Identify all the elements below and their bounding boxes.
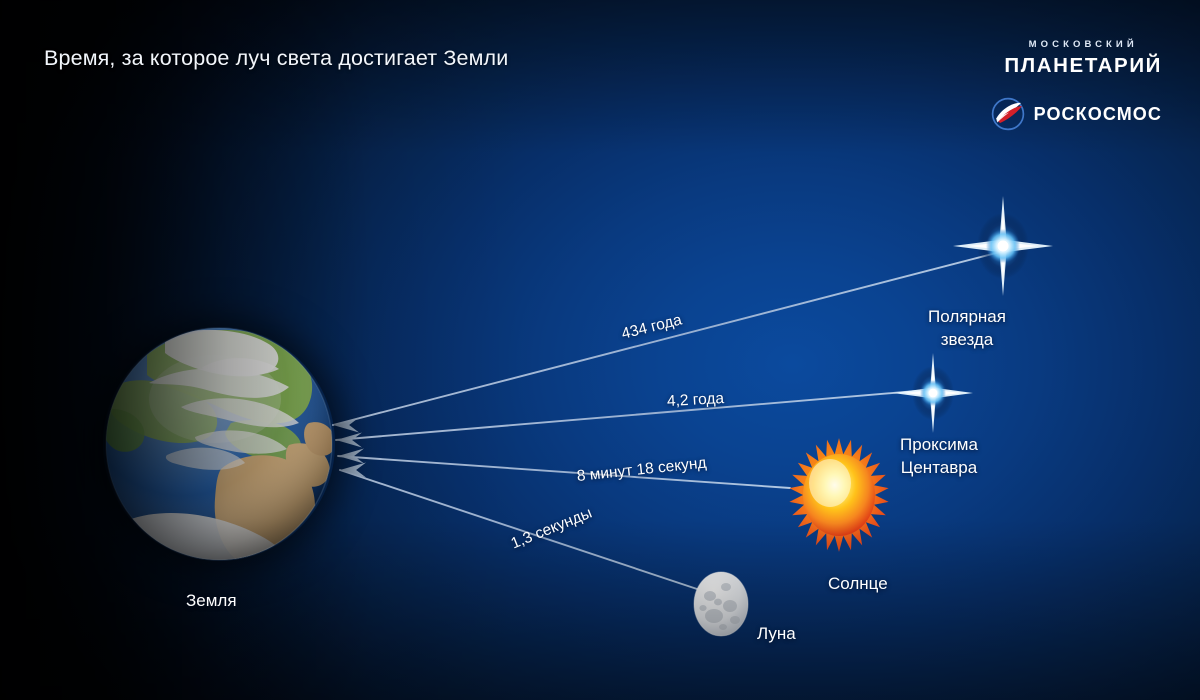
moscow-planetarium-logo: МОСКОВСКИЙ ПЛАНЕТАРИЙ <box>1004 40 1162 76</box>
page-title: Время, за которое луч света достигает Зе… <box>44 46 508 71</box>
ray-line-moon <box>340 470 700 590</box>
label-proxima-line2: Центавра <box>849 457 1029 480</box>
label-proxima-centauri: Проксима Центавра <box>849 434 1029 479</box>
label-earth: Земля <box>186 590 237 613</box>
polaris-star <box>953 196 1053 296</box>
infographic-canvas: Время, за которое луч света достигает Зе… <box>0 0 1200 700</box>
label-polaris-line2: звезда <box>877 329 1057 352</box>
polaris-svg <box>953 196 1053 296</box>
ray-label-proxima: 4,2 года <box>667 390 725 411</box>
arrowhead-2 <box>338 449 364 464</box>
arrowheads-group <box>333 418 366 478</box>
label-proxima-line1: Проксима <box>849 434 1029 457</box>
earth-drop-shadow <box>103 327 335 561</box>
roscosmos-logo: РОСКОСМОС <box>991 97 1162 131</box>
proxima-centauri-star <box>893 353 973 433</box>
ray-line-sun <box>338 456 790 488</box>
planetarium-logo-line1: МОСКОВСКИЙ <box>1004 40 1162 50</box>
arrowhead-1 <box>336 433 362 448</box>
moon-svg <box>690 570 752 638</box>
roscosmos-emblem-icon <box>991 97 1025 131</box>
label-polaris: Полярная звезда <box>877 306 1057 351</box>
label-polaris-line1: Полярная <box>877 306 1057 329</box>
proxima-svg <box>893 353 973 433</box>
planetarium-logo-line2: ПЛАНЕТАРИЙ <box>1004 56 1162 77</box>
roscosmos-logo-text: РОСКОСМОС <box>1034 104 1162 125</box>
ray-line-proxima <box>336 390 928 440</box>
label-sun: Солнце <box>828 573 888 596</box>
label-moon: Луна <box>757 623 796 646</box>
moon-illustration <box>690 570 752 638</box>
earth-globe <box>103 327 335 561</box>
arrowhead-0 <box>333 418 359 433</box>
